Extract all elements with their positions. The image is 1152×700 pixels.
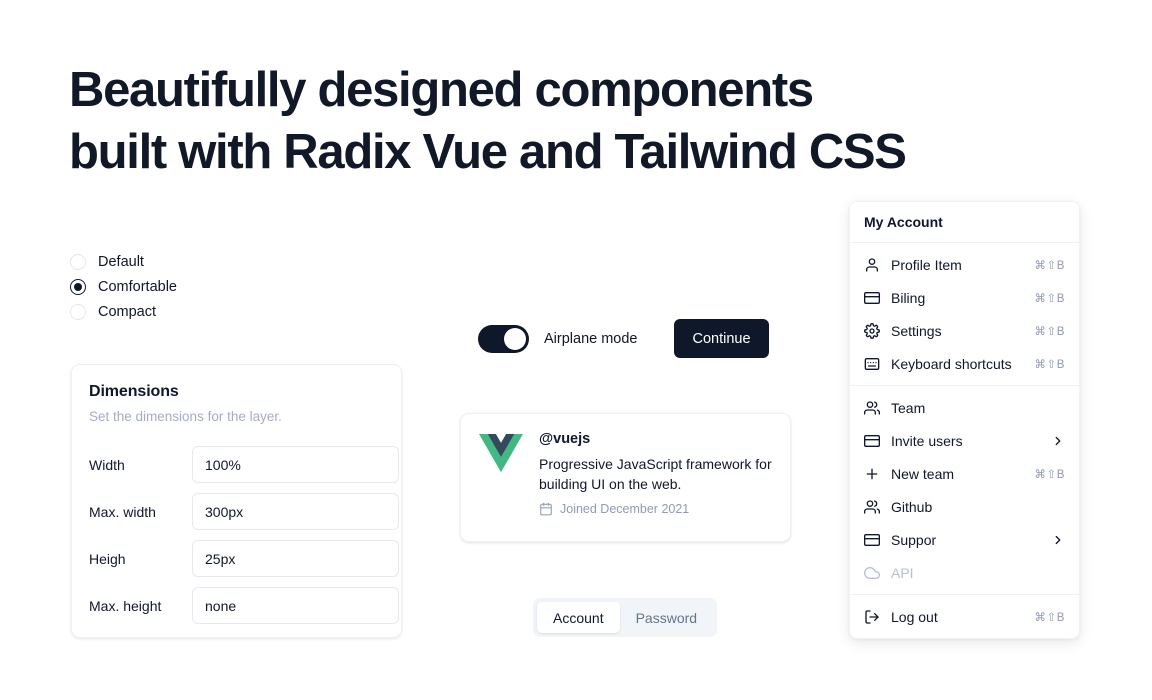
menu-item-label: Log out <box>891 609 1023 625</box>
hover-card-joined-text: Joined December 2021 <box>560 502 689 516</box>
field-label-max-height: Max. height <box>89 598 192 614</box>
menu-item-keyboard-shortcuts[interactable]: Keyboard shortcuts⌘⇧B <box>855 347 1074 380</box>
airplane-mode-row: Airplane mode <box>478 319 638 358</box>
hover-card-joined: Joined December 2021 <box>539 502 772 516</box>
radio-group: DefaultComfortableCompact <box>70 249 177 324</box>
menu-item-suppor[interactable]: Suppor <box>855 523 1074 556</box>
field-label-width: Width <box>89 457 192 473</box>
field-input-max-height[interactable] <box>192 587 399 624</box>
menu-header: My Account <box>850 202 1079 242</box>
menu-item-shortcut: ⌘⇧B <box>1034 258 1065 272</box>
dimensions-field-list: WidthMax. widthHeighMax. height <box>89 441 384 629</box>
menu-item-label: Biling <box>891 290 1023 306</box>
radio-option-label: Compact <box>98 304 156 320</box>
tab-password[interactable]: Password <box>620 602 713 633</box>
menu-item-github[interactable]: Github <box>855 490 1074 523</box>
dimensions-card-title: Dimensions <box>89 383 384 401</box>
menu-item-shortcut: ⌘⇧B <box>1034 610 1065 624</box>
hover-card-handle: @vuejs <box>539 431 772 447</box>
field-input-heigh[interactable] <box>192 540 399 577</box>
dimensions-field-row: Heigh <box>89 535 384 582</box>
field-input-width[interactable] <box>192 446 399 483</box>
menu-item-label: Github <box>891 499 1065 515</box>
gear-icon <box>864 323 880 339</box>
radio-option-label: Comfortable <box>98 279 177 295</box>
menu-item-label: API <box>891 565 1065 581</box>
account-dropdown-menu: My Account Profile Item⌘⇧BBiling⌘⇧BSetti… <box>849 201 1080 639</box>
menu-item-biling[interactable]: Biling⌘⇧B <box>855 281 1074 314</box>
dimensions-field-row: Max. height <box>89 582 384 629</box>
menu-item-label: Settings <box>891 323 1023 339</box>
field-label-heigh: Heigh <box>89 551 192 567</box>
page-title: Beautifully designed components built wi… <box>69 59 1009 183</box>
menu-item-settings[interactable]: Settings⌘⇧B <box>855 314 1074 347</box>
menu-item-shortcut: ⌘⇧B <box>1034 291 1065 305</box>
menu-item-api: API <box>855 556 1074 589</box>
cloud-icon <box>864 565 880 581</box>
menu-item-shortcut: ⌘⇧B <box>1034 467 1065 481</box>
keyboard-icon <box>864 356 880 372</box>
tab-account[interactable]: Account <box>537 602 620 633</box>
radio-option-compact[interactable]: Compact <box>70 299 177 324</box>
hover-card-body: @vuejs Progressive JavaScript framework … <box>539 431 772 524</box>
plus-icon <box>864 466 880 482</box>
credit-card-icon <box>864 532 880 548</box>
chevron-right-icon <box>1051 533 1065 547</box>
menu-group: TeamInvite usersNew team⌘⇧BGithubSupporA… <box>850 386 1079 594</box>
menu-item-label: Invite users <box>891 433 1040 449</box>
menu-groups: Profile Item⌘⇧BBiling⌘⇧BSettings⌘⇧BKeybo… <box>850 243 1079 638</box>
user-icon <box>864 257 880 273</box>
radio-option-comfortable[interactable]: Comfortable <box>70 274 177 299</box>
continue-button[interactable]: Continue <box>674 319 769 358</box>
field-input-max-width[interactable] <box>192 493 399 530</box>
radio-indicator[interactable] <box>70 254 86 270</box>
settings-tabs: AccountPassword <box>533 598 717 637</box>
menu-item-label: Team <box>891 400 1065 416</box>
dimensions-card: Dimensions Set the dimensions for the la… <box>71 364 402 638</box>
menu-item-new-team[interactable]: New team⌘⇧B <box>855 457 1074 490</box>
calendar-icon <box>539 502 553 516</box>
page-title-line-2: built with Radix Vue and Tailwind CSS <box>69 121 1009 183</box>
vuejs-hover-card: @vuejs Progressive JavaScript framework … <box>460 413 791 542</box>
dimensions-field-row: Width <box>89 441 384 488</box>
credit-card-icon <box>864 290 880 306</box>
menu-item-label: Profile Item <box>891 257 1023 273</box>
users-icon <box>864 400 880 416</box>
airplane-mode-switch[interactable] <box>478 325 529 353</box>
menu-item-label: New team <box>891 466 1023 482</box>
field-label-max-width: Max. width <box>89 504 192 520</box>
menu-item-log-out[interactable]: Log out⌘⇧B <box>855 600 1074 633</box>
radio-indicator[interactable] <box>70 304 86 320</box>
dimensions-card-description: Set the dimensions for the layer. <box>89 409 384 424</box>
menu-item-label: Suppor <box>891 532 1040 548</box>
menu-item-team[interactable]: Team <box>855 391 1074 424</box>
dimensions-field-row: Max. width <box>89 488 384 535</box>
menu-group: Profile Item⌘⇧BBiling⌘⇧BSettings⌘⇧BKeybo… <box>850 243 1079 385</box>
credit-card-icon <box>864 433 880 449</box>
radio-option-default[interactable]: Default <box>70 249 177 274</box>
radio-indicator[interactable] <box>70 279 86 295</box>
page-title-line-1: Beautifully designed components <box>69 59 1009 121</box>
airplane-mode-label: Airplane mode <box>544 331 638 347</box>
radio-option-label: Default <box>98 254 144 270</box>
hover-card-description: Progressive JavaScript framework for bui… <box>539 454 772 494</box>
hero-heading: Beautifully designed components built wi… <box>69 59 1009 183</box>
users-icon <box>864 499 880 515</box>
switch-knob <box>504 328 526 350</box>
logout-icon <box>864 609 880 625</box>
menu-item-shortcut: ⌘⇧B <box>1034 357 1065 371</box>
menu-item-invite-users[interactable]: Invite users <box>855 424 1074 457</box>
menu-group: Log out⌘⇧B <box>850 595 1079 638</box>
vue-logo-icon <box>479 433 523 473</box>
menu-item-shortcut: ⌘⇧B <box>1034 324 1065 338</box>
menu-item-label: Keyboard shortcuts <box>891 356 1023 372</box>
chevron-right-icon <box>1051 434 1065 448</box>
menu-item-profile-item[interactable]: Profile Item⌘⇧B <box>855 248 1074 281</box>
